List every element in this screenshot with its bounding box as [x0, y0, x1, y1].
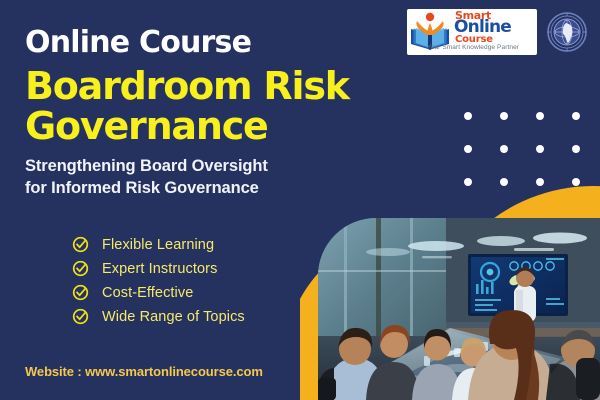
check-circle-icon-svg [72, 236, 89, 253]
grid-dot [572, 178, 580, 186]
list-item: Wide Range of Topics [72, 308, 245, 325]
logo-wordmark: Smart Online Course Your Smart Knowledge… [453, 9, 537, 55]
dot-grid-decoration [464, 112, 600, 211]
grid-dot [572, 112, 580, 120]
list-item-label: Cost-Effective [102, 285, 193, 301]
check-circle-icon-svg [72, 260, 89, 277]
list-item-label: Wide Range of Topics [102, 309, 245, 325]
course-subtitle: Strengthening Board Oversight for Inform… [25, 155, 355, 200]
list-item-label: Expert Instructors [102, 261, 217, 277]
website-url[interactable]: Website : www.smartonlinecourse.com [25, 364, 263, 379]
grid-dot [464, 145, 472, 153]
check-circle-icon-svg [72, 284, 89, 301]
subtitle-line-2: for Informed Risk Governance [25, 177, 355, 199]
course-promo-banner: Smart Online Course Your Smart Knowledge… [0, 0, 600, 400]
grid-dot [500, 178, 508, 186]
list-item-label: Flexible Learning [102, 237, 214, 253]
check-circle-icon [72, 260, 89, 277]
seal-emblem-svg [547, 12, 587, 52]
title-line-1: Boardroom Risk [25, 66, 425, 106]
smart-online-course-logo[interactable]: Smart Online Course Your Smart Knowledge… [407, 9, 537, 55]
grid-dot [500, 145, 508, 153]
logo-tagline: Your Smart Knowledge Partner [409, 45, 537, 52]
boardroom-photo [318, 218, 600, 400]
feature-list: Flexible Learning Expert Instructors Cos… [72, 236, 245, 325]
government-seal-emblem-icon [547, 12, 587, 52]
check-circle-icon [72, 236, 89, 253]
list-item: Flexible Learning [72, 236, 245, 253]
grid-dot [464, 178, 472, 186]
grid-dot [464, 112, 472, 120]
subtitle-line-1: Strengthening Board Oversight [25, 155, 355, 177]
title-line-2: Governance [25, 106, 425, 146]
list-item: Expert Instructors [72, 260, 245, 277]
grid-dot [536, 112, 544, 120]
grid-dot [536, 178, 544, 186]
check-circle-icon [72, 308, 89, 325]
grid-dot [500, 112, 508, 120]
grid-dot [572, 145, 580, 153]
boardroom-photo-illustration [318, 218, 600, 400]
list-item: Cost-Effective [72, 284, 245, 301]
page-title: Boardroom Risk Governance [25, 66, 425, 147]
grid-dot [536, 145, 544, 153]
check-circle-icon-svg [72, 308, 89, 325]
course-kicker: Online Course [25, 28, 251, 58]
check-circle-icon [72, 284, 89, 301]
